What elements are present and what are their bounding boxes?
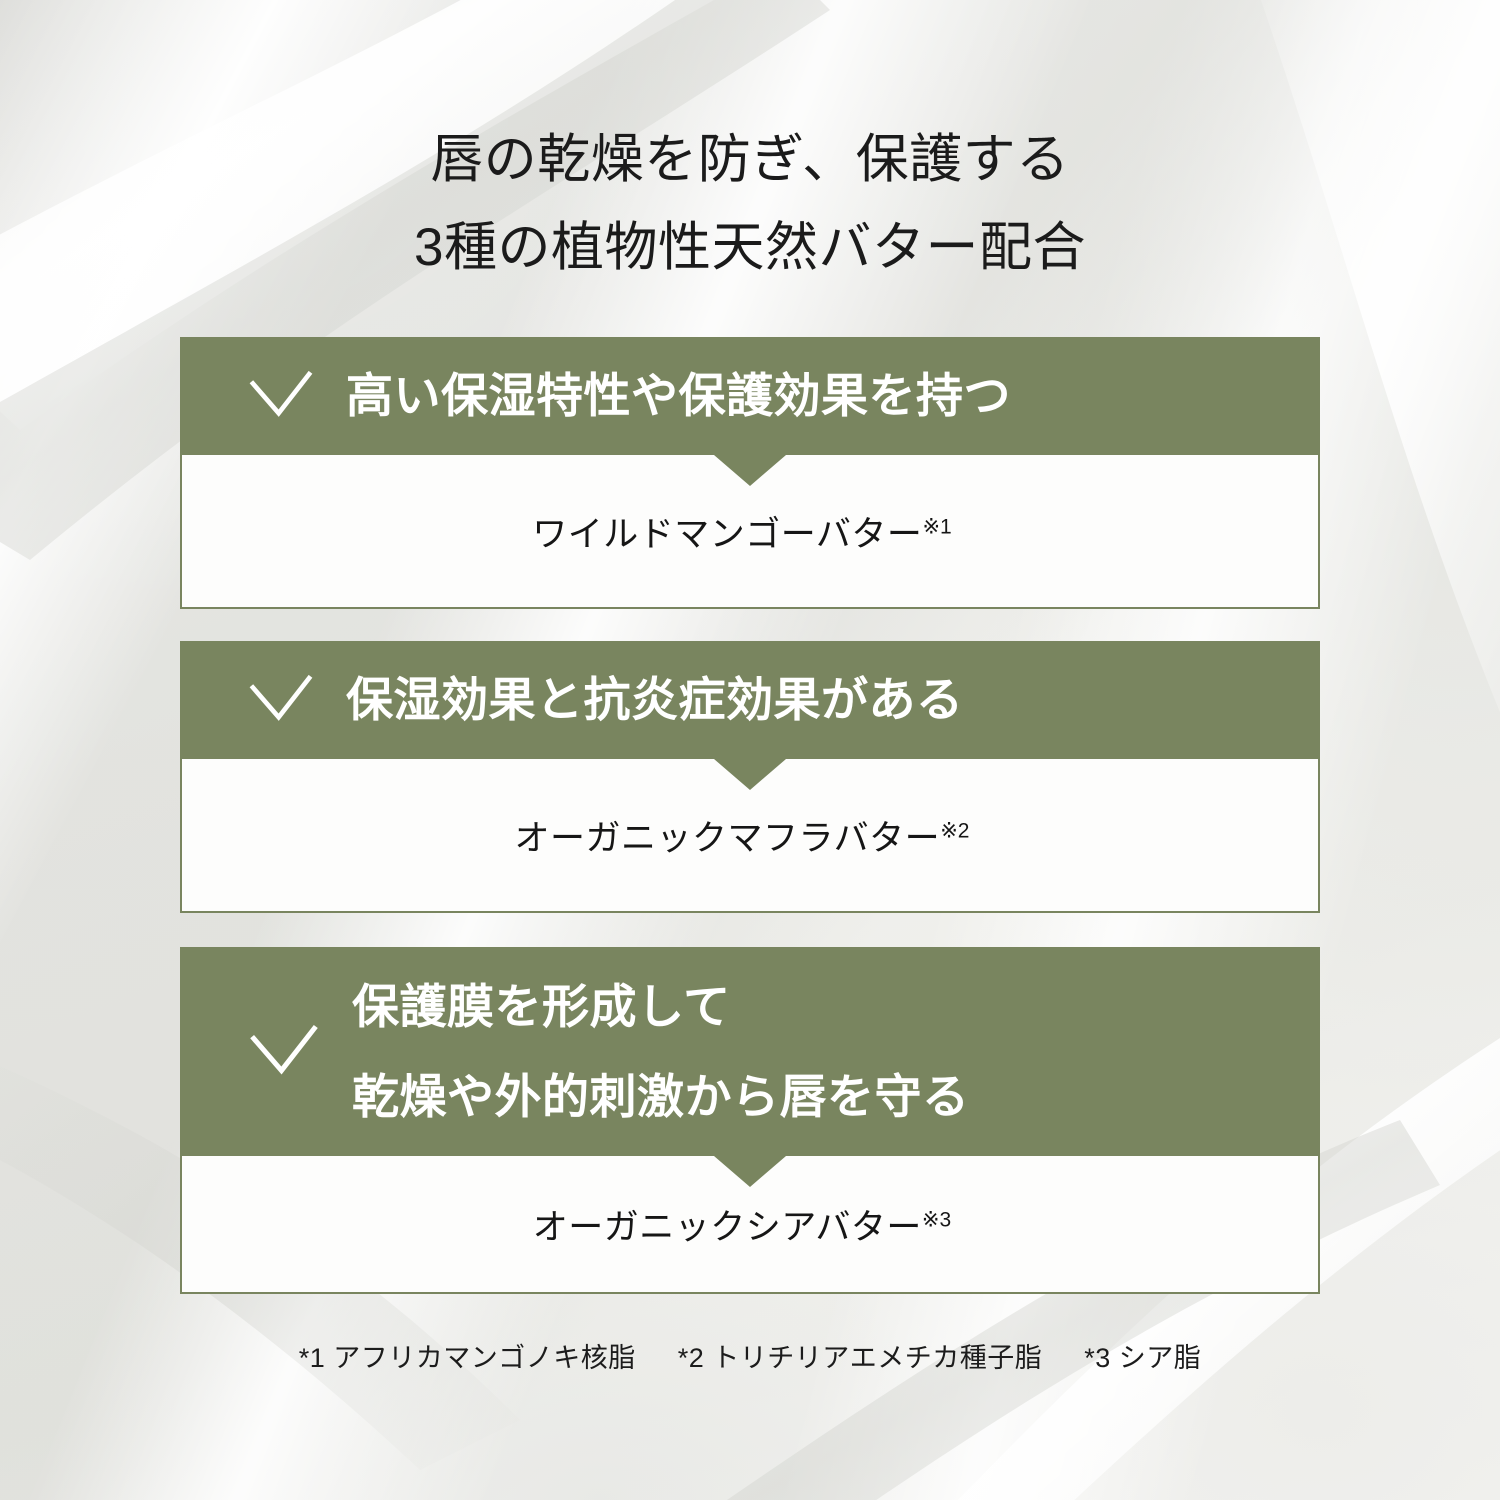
ingredient-block-2: 保湿効果と抗炎症効果がある オーガニックマフラバター※2 [180,641,1320,913]
page-title: 唇の乾燥を防ぎ、保護する 3種の植物性天然バター配合 [0,116,1500,292]
ingredient-block-1: 高い保湿特性や保護効果を持つ ワイルドマンゴーバター※1 [180,337,1320,609]
benefit-banner-3: 保護膜を形成して 乾燥や外的刺激から唇を守る [180,947,1320,1156]
benefit-line: 高い保湿特性や保護効果を持つ [346,359,1011,433]
ingredient-name-2: オーガニックマフラバター※2 [515,810,970,861]
benefit-line: 保護膜を形成して [352,962,970,1052]
check-icon [242,357,320,435]
ingredient-footnote-marker: ※2 [940,819,969,842]
ingredient-footnote-marker: ※3 [922,1208,951,1231]
footnotes: *1 アフリカマンゴノキ核脂 *2 トリチリアエメチカ種子脂 *3 シア脂 [0,1336,1500,1375]
benefit-banner-1-text: 高い保湿特性や保護効果を持つ [346,359,1011,433]
headline-line-2: 3種の植物性天然バター配合 [0,204,1500,292]
ingredient-label: オーガニックシアバター [533,1208,922,1247]
footnote-3: *3 シア脂 [1084,1336,1201,1375]
headline-line-1: 唇の乾燥を防ぎ、保護する [0,116,1500,204]
footnote-2: *2 トリチリアエメチカ種子脂 [678,1336,1043,1375]
ingredient-name-1: ワイルドマンゴーバター※1 [532,506,951,557]
ingredient-name-3: オーガニックシアバター※3 [533,1199,951,1250]
ingredient-footnote-marker: ※1 [922,515,951,538]
ingredient-label: ワイルドマンゴーバター [532,515,922,554]
benefit-banner-2-text: 保湿効果と抗炎症効果がある [346,663,964,737]
ingredient-block-3: 保護膜を形成して 乾燥や外的刺激から唇を守る オーガニックシアバター※3 [180,947,1320,1294]
footnote-1: *1 アフリカマンゴノキ核脂 [299,1336,636,1375]
benefit-banner-3-text: 保護膜を形成して 乾燥や外的刺激から唇を守る [352,962,970,1142]
check-icon [242,661,320,739]
infographic-page: 唇の乾燥を防ぎ、保護する 3種の植物性天然バター配合 高い保湿特性や保護効果を持… [0,0,1500,1500]
benefit-line: 乾燥や外的刺激から唇を守る [352,1052,970,1142]
ingredient-label: オーガニックマフラバター [515,819,941,858]
benefit-banner-1: 高い保湿特性や保護効果を持つ [180,337,1320,455]
benefit-line: 保湿効果と抗炎症効果がある [346,663,964,737]
check-icon [242,1010,326,1094]
benefit-banner-2: 保湿効果と抗炎症効果がある [180,641,1320,759]
